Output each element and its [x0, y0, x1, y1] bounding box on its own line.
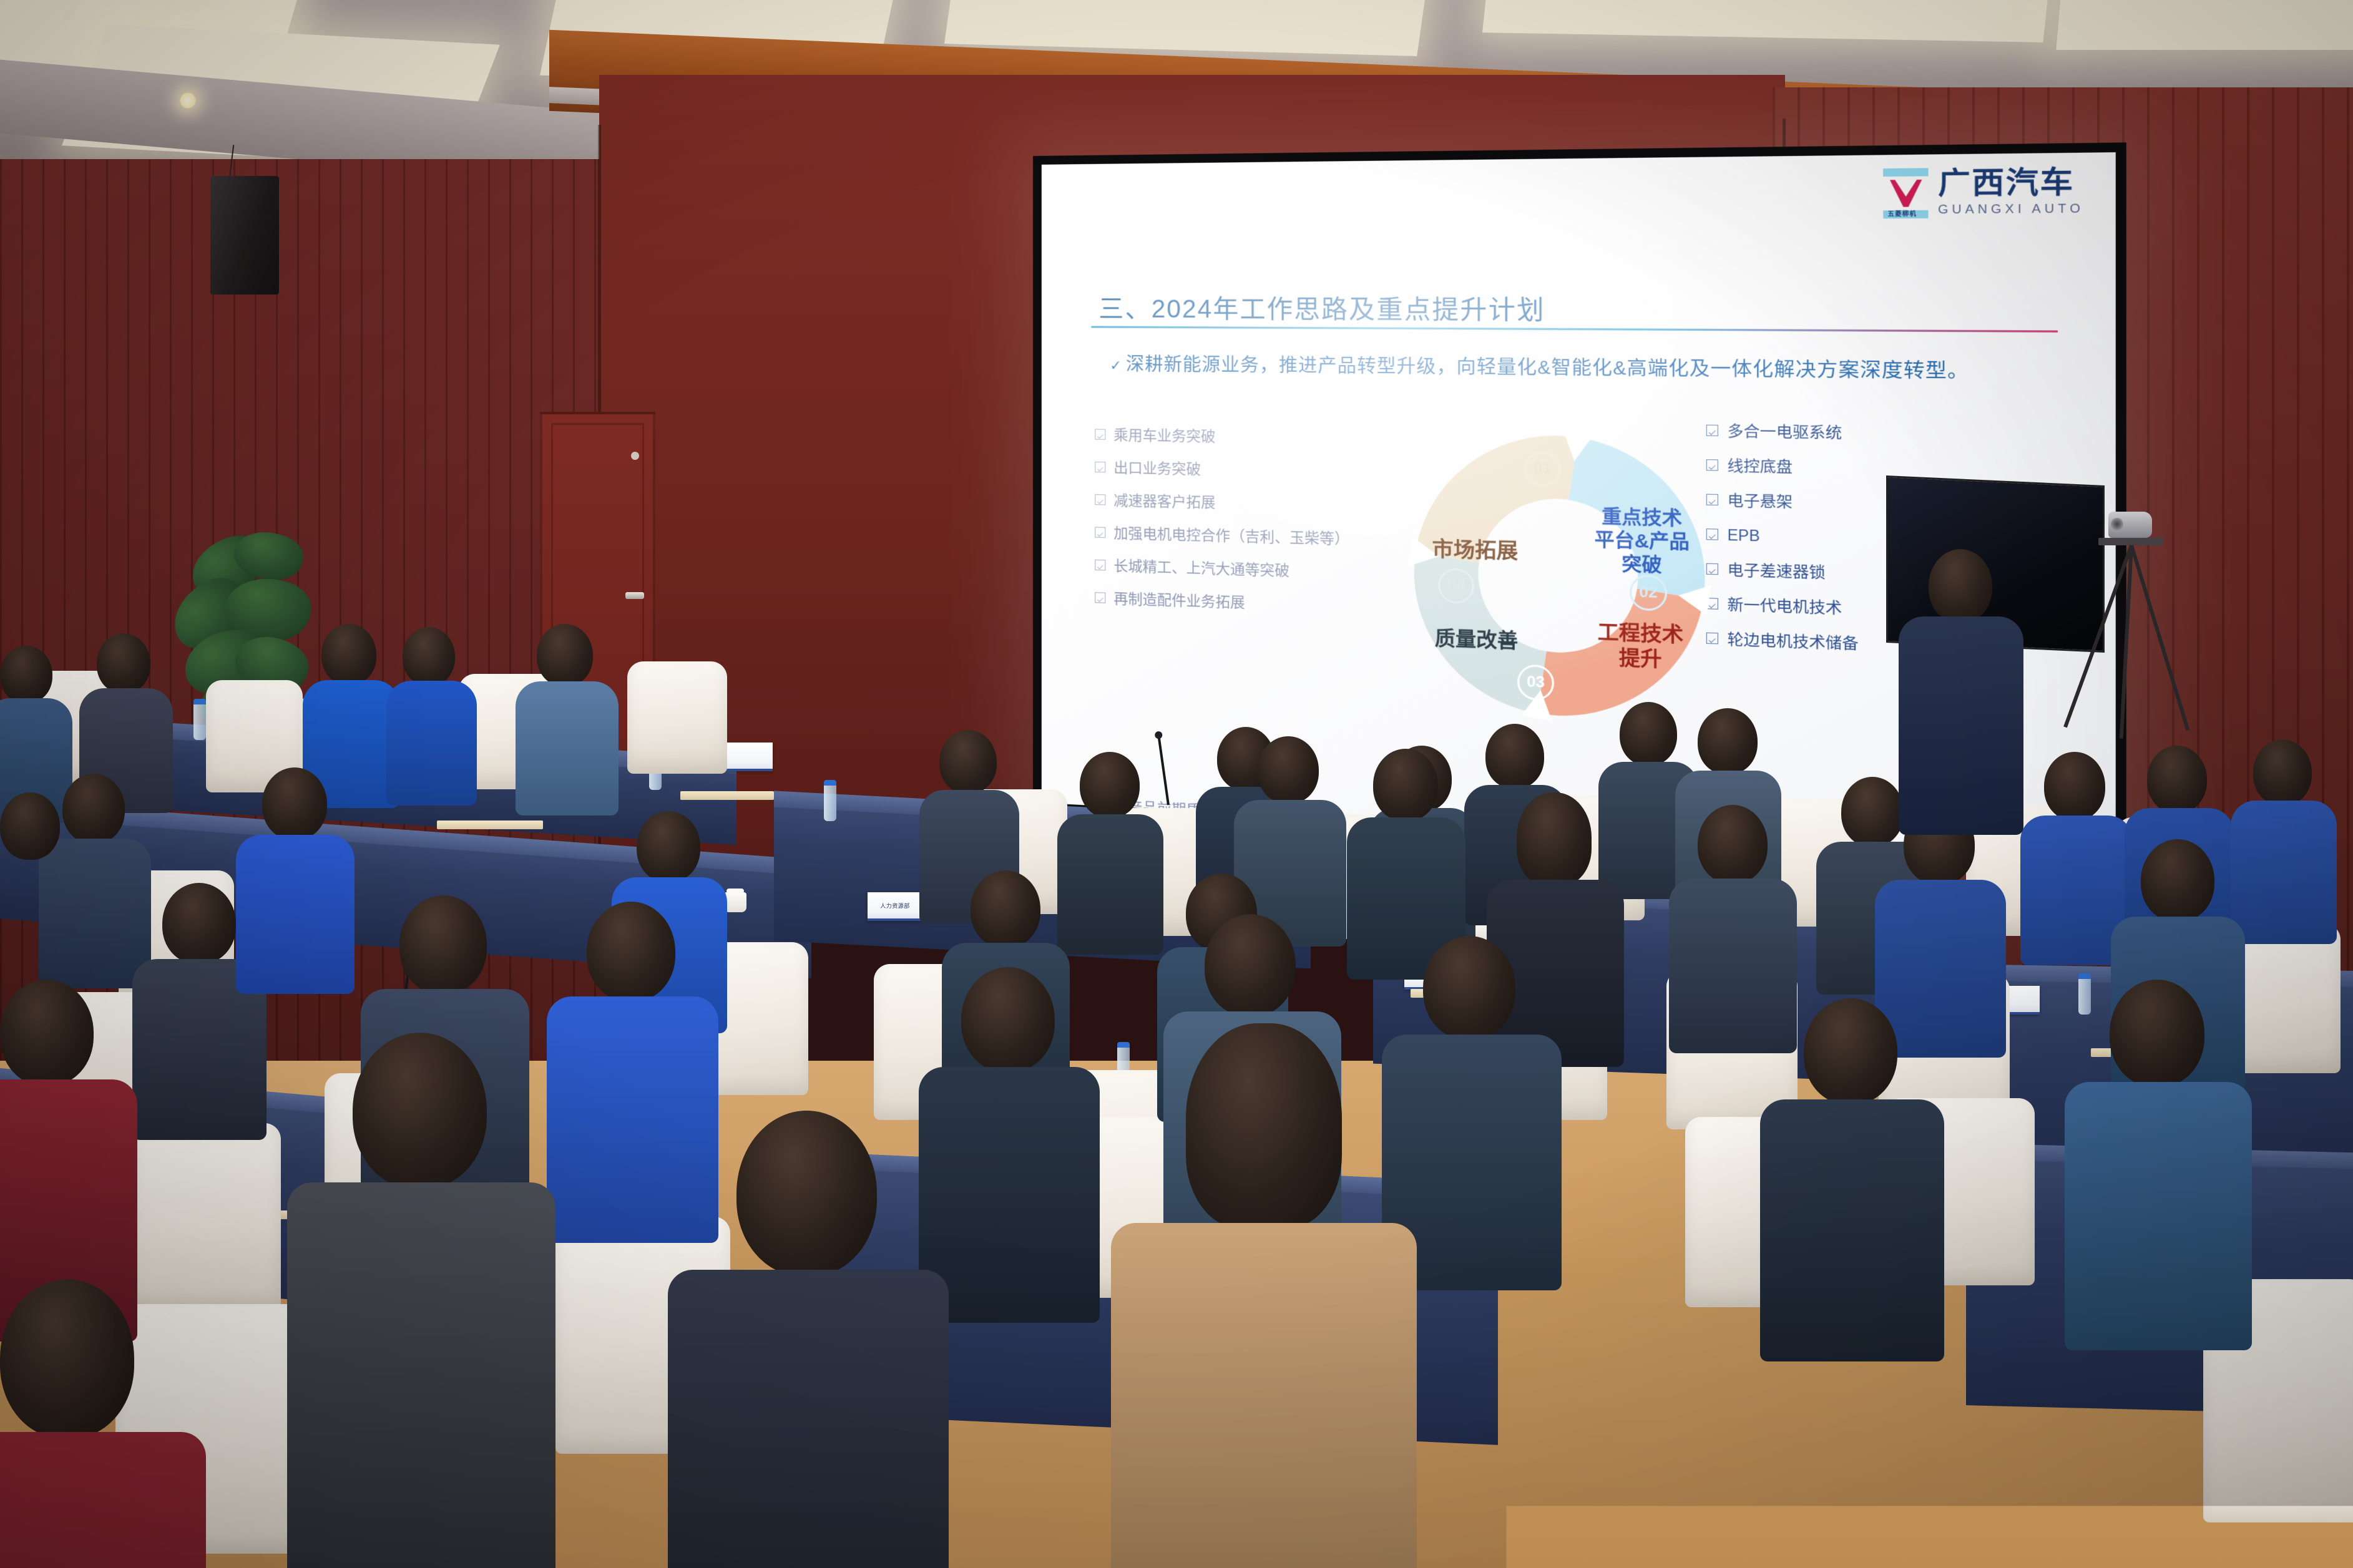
wheel-label-03: 工程技术 提升: [1567, 618, 1716, 673]
person-head: [1485, 724, 1544, 789]
bullet-label: 加强电机电控合作（吉利、玉柴等）: [1113, 526, 1349, 547]
person-head: [939, 730, 997, 794]
person-head: [1929, 549, 1992, 623]
checkbox-icon: [1095, 462, 1105, 472]
person-head: [1080, 752, 1140, 818]
slide-subtitle-row: ✓深耕新能源业务，推进产品转型升级，向轻量化&智能化&高端化及一体化解决方案深度…: [1110, 353, 2070, 386]
bullet-item: 乘用车业务突破: [1095, 427, 1397, 447]
person-torso: [547, 996, 718, 1243]
guangxi-auto-logo-icon: 五菱柳机: [1884, 168, 1929, 218]
person-head: [97, 633, 150, 693]
conference-room-scene: 五菱柳机 广西汽车 GUANGXI AUTO 三、2024年工作思路及重点提升计…: [0, 0, 2353, 1568]
person-torso: [1760, 1099, 1944, 1361]
wheel-label-01: 市场拓展: [1405, 536, 1546, 565]
person-head: [0, 646, 52, 703]
person-head: [0, 980, 94, 1086]
person-torso: [386, 681, 477, 806]
person-head: [1841, 777, 1904, 847]
person-torso: [1669, 879, 1797, 1053]
person-torso: [1111, 1223, 1417, 1568]
check-marker-icon: ✓: [1110, 358, 1122, 373]
door-handle[interactable]: [625, 592, 644, 599]
bullet-item: 减速器客户拓展: [1095, 493, 1397, 514]
person-torso: [1875, 880, 2006, 1058]
checkbox-icon: [1095, 592, 1105, 603]
person-head: [1205, 914, 1296, 1016]
door-lock-icon: [631, 452, 639, 460]
person-head: [403, 627, 455, 686]
person-head: [353, 1033, 487, 1189]
person-head: [1258, 736, 1319, 804]
logo-v-mark: [1890, 180, 1922, 207]
logo-mark-subtext: 五菱柳机: [1888, 209, 1917, 218]
person-head: [1698, 805, 1768, 884]
person-head: [62, 774, 125, 844]
bullet-label: 多合一电驱系统: [1728, 424, 1842, 441]
person-head: [961, 967, 1055, 1072]
person-head: [2141, 839, 2214, 922]
person-torso: [668, 1270, 949, 1568]
person-torso: [2231, 801, 2337, 944]
bullet-label: 再制造配件业务拓展: [1113, 592, 1245, 610]
person-head: [736, 1111, 877, 1276]
person-torso: [0, 1432, 206, 1568]
notebook: [680, 791, 774, 800]
brand-name-en: GUANGXI AUTO: [1938, 202, 2084, 217]
notebook: [437, 821, 543, 829]
person-head: [399, 895, 487, 994]
checkbox-icon: [1095, 494, 1105, 505]
person-torso: [516, 681, 619, 816]
bullet-label: 电子差速器锁: [1728, 562, 1826, 580]
bullet-label: 减速器客户拓展: [1113, 494, 1215, 510]
chair: [131, 1123, 281, 1310]
bullet-group-market-expansion: 乘用车业务突破 出口业务突破 减速器客户拓展 加强电机电控合作（吉利、玉柴等） …: [1095, 427, 1397, 633]
wheel-number-04: 04: [1438, 568, 1474, 604]
person-head: [1804, 998, 1897, 1104]
person-head: [1620, 702, 1677, 766]
cycle-wheel-diagram: 市场拓展 重点技术 平台&产品 突破 工程技术 提升 质量改善 01 02 03…: [1399, 419, 1720, 737]
wheel-number-01: 01: [1524, 451, 1561, 487]
person-head: [162, 883, 236, 964]
camera-lens-icon: [2111, 518, 2123, 530]
ceiling-speaker: [210, 176, 279, 295]
person-head: [262, 767, 327, 840]
ceiling-light-panel-6: [2056, 0, 2353, 50]
person-torso: [1057, 814, 1163, 955]
person-torso: [2065, 1082, 2252, 1350]
water-bottle: [2078, 973, 2091, 1015]
person-head: [2147, 746, 2207, 813]
person-head: [637, 811, 700, 882]
checkbox-icon: [1095, 560, 1105, 571]
person-head: [537, 624, 593, 686]
bullet-label: 新一代电机技术: [1728, 597, 1842, 616]
name-card-hr: 人力资源部: [868, 892, 922, 921]
person-head: [2044, 752, 2105, 821]
person-torso: [1899, 616, 2023, 835]
slide-subtitle: 深耕新能源业务，推进产品转型升级，向轻量化&智能化&高端化及一体化解决方案深度转…: [1126, 354, 1970, 382]
ptz-camera-icon: [2108, 512, 2152, 538]
brand-name-cn: 广西汽车: [1938, 168, 2084, 199]
person-head: [1373, 749, 1438, 821]
bullet-item: 再制造配件业务拓展: [1095, 591, 1397, 615]
slide-title: 三、2024年工作思路及重点提升计划: [1098, 288, 1545, 327]
person-head: [587, 902, 675, 1001]
bullet-item: 出口业务突破: [1095, 460, 1397, 480]
person-head: [0, 792, 60, 860]
bullet-item: 长城精工、上汽大通等突破: [1095, 558, 1397, 582]
checkbox-icon: [1095, 527, 1105, 538]
water-bottle: [193, 699, 206, 740]
brand-logo: 五菱柳机 广西汽车 GUANGXI AUTO: [1884, 167, 2084, 219]
person-head: [321, 624, 376, 685]
bullet-item: 多合一电驱系统: [1706, 423, 2084, 444]
camera-tripod: [2097, 512, 2166, 743]
title-divider: [1091, 326, 2058, 332]
bullet-label: 轮边电机技术储备: [1728, 632, 1859, 652]
person-head: [1698, 708, 1758, 774]
bullet-label: 长城精工、上汽大通等突破: [1113, 559, 1289, 578]
person-head: [2253, 739, 2312, 806]
water-bottle: [824, 780, 836, 821]
logo-bar-top: [1884, 168, 1929, 177]
person-head: [1517, 792, 1592, 886]
wheel-label-02: 重点技术 平台&产品 突破: [1568, 505, 1717, 579]
person-head: [1186, 1023, 1342, 1229]
tea-mug: [724, 892, 746, 912]
ceiling-downlight-1: [180, 92, 196, 109]
bullet-label: 电子悬架: [1728, 493, 1793, 510]
bullet-label: EPB: [1728, 528, 1760, 544]
person-head: [971, 870, 1040, 948]
person-head: [2110, 980, 2204, 1087]
chair: [627, 661, 727, 774]
person-head: [0, 1279, 134, 1438]
person-head: [1423, 936, 1515, 1040]
tripod-head-plate: [2098, 538, 2163, 545]
bullet-label: 出口业务突破: [1113, 460, 1201, 477]
checkbox-icon: [1095, 429, 1105, 439]
bullet-item: 加强电机电控合作（吉利、玉柴等）: [1095, 525, 1397, 548]
wheel-label-04: 质量改善: [1406, 625, 1547, 655]
wheel-number-02: 02: [1630, 575, 1667, 611]
person-torso: [236, 835, 355, 994]
bullet-label: 线控底盘: [1728, 459, 1793, 475]
person-torso: [287, 1182, 555, 1568]
bullet-label: 乘用车业务突破: [1113, 428, 1215, 444]
